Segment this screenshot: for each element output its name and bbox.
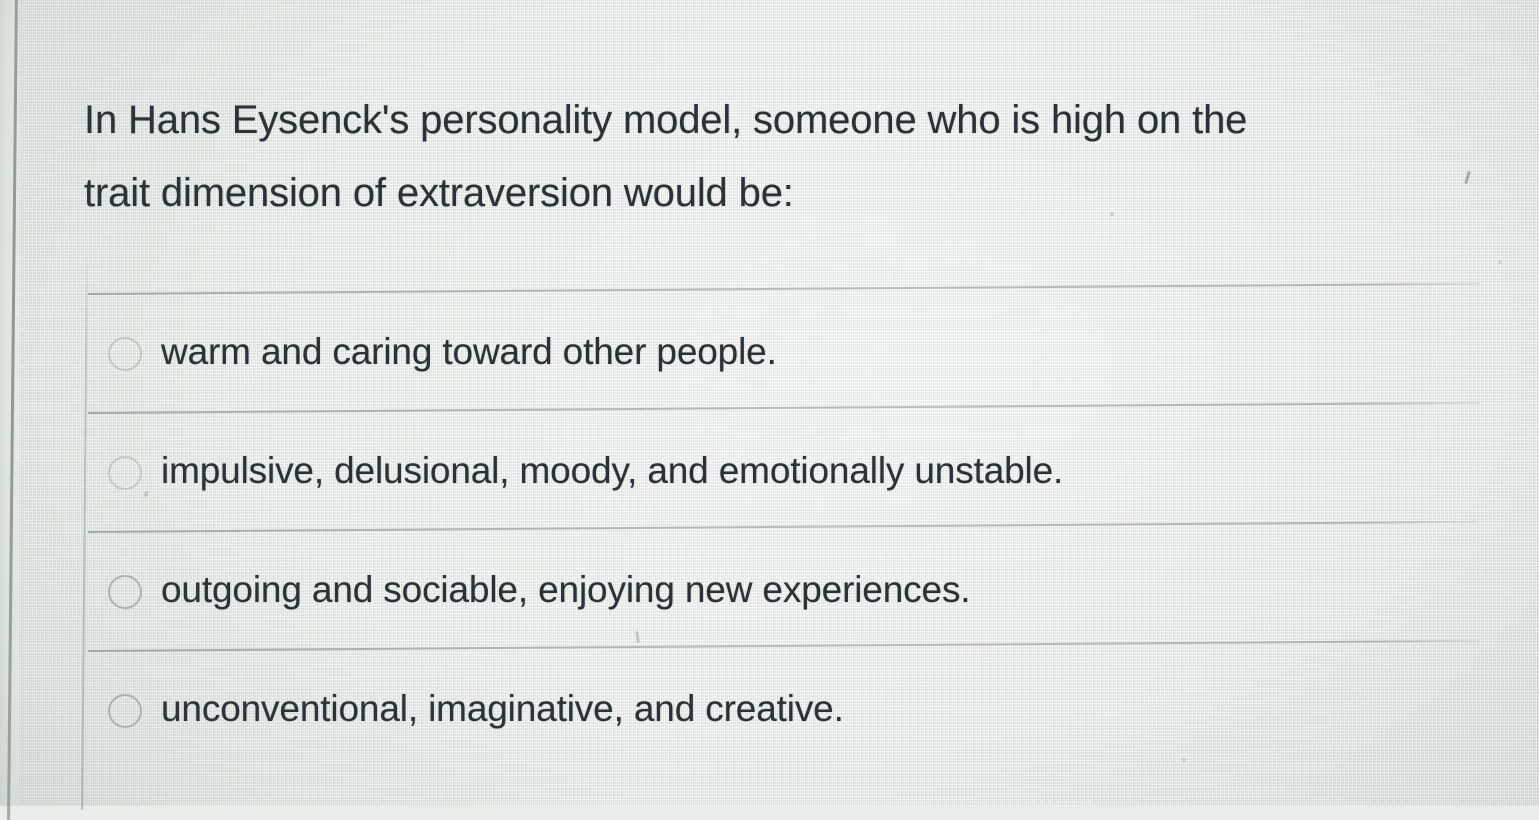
answer-option-2[interactable]: impulsive, delusional, moody, and emotio… bbox=[0, 412, 1539, 531]
answer-option-4-label: unconventional, imaginative, and creativ… bbox=[161, 689, 844, 730]
answer-option-1[interactable]: warm and caring toward other people. bbox=[0, 293, 1539, 412]
radio-button-1[interactable] bbox=[108, 337, 142, 371]
answer-option-3[interactable]: outgoing and sociable, enjoying new expe… bbox=[0, 531, 1539, 650]
quiz-content: In Hans Eysenck's personality model, som… bbox=[0, 0, 1539, 806]
answer-option-3-label: outgoing and sociable, enjoying new expe… bbox=[161, 570, 970, 611]
radio-button-2[interactable] bbox=[108, 456, 142, 490]
answer-option-1-label: warm and caring toward other people. bbox=[161, 332, 777, 373]
question-text: In Hans Eysenck's personality model, som… bbox=[84, 84, 1464, 230]
answer-option-2-label: impulsive, delusional, moody, and emotio… bbox=[161, 451, 1063, 492]
option-divider bbox=[88, 283, 1480, 295]
radio-button-3[interactable] bbox=[108, 575, 142, 609]
answer-option-4[interactable]: unconventional, imaginative, and creativ… bbox=[0, 650, 1539, 769]
radio-button-4[interactable] bbox=[108, 694, 142, 728]
answer-options-list: warm and caring toward other people. imp… bbox=[0, 293, 1539, 769]
